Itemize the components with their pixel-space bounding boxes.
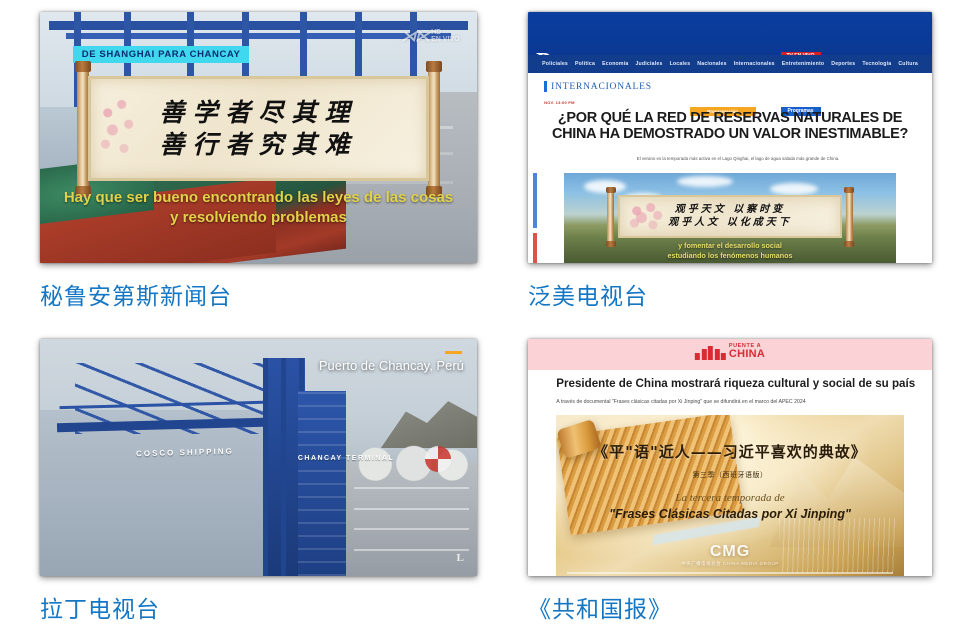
video-subtitle: Hay que ser bueno encontrando las leyes … [40, 188, 477, 229]
screenshot-peru-andina[interactable]: ⋊⋉ HD EN VIVO DE SHANGHAI PARA CHANCAY [40, 12, 477, 263]
calligraphy-scroll: 善学者尽其理 善行者究其难 [77, 65, 440, 193]
subtitle-line-2: y resolviendo problemas [50, 208, 467, 228]
scroll-rod-left [607, 191, 614, 243]
location-accent-bar [445, 351, 462, 354]
section-label: INTERNACIONALES [544, 81, 652, 92]
calligraphy-line-2: 善行者究其难 [159, 129, 357, 161]
poster-spanish-line-2: "Frases Clásicas Citadas por Xi Jinping" [556, 507, 903, 521]
site-header-bar [528, 12, 932, 55]
calligraphy-line-2: 观乎人文 以化成天下 [668, 217, 791, 230]
nav-item-politica[interactable]: Política [575, 61, 595, 67]
section-accent-bar [544, 81, 547, 92]
screenshot-latina[interactable]: COSCO SHIPPING CHANCAY TERMINAL Puerto d… [40, 339, 477, 576]
nav-item-deportes[interactable]: Deportes [831, 61, 855, 67]
terminal-label: CHANCAY TERMINAL [298, 455, 394, 462]
poster-chinese-title: 《平"语"近人——习近平喜欢的典故》 [556, 441, 903, 462]
subtitle-line-1: y fomentar el desarrollo social [564, 241, 895, 251]
article-timestamp: NOV. 13:00 PM [544, 100, 574, 105]
lower-third-banner: DE SHANGHAI PARA CHANCAY [73, 46, 250, 63]
scroll-rod-right [846, 191, 853, 243]
screenshot-root: ⋊⋉ HD EN VIVO DE SHANGHAI PARA CHANCAY [0, 0, 979, 640]
scroll-rod-right [428, 65, 440, 193]
article-headline: ¿POR QUÉ LA RED DE RESERVAS NATURALES DE… [536, 110, 924, 142]
brand-line-2: CHINA [729, 349, 765, 360]
brand-wordmark: PUENTE A CHINA [729, 344, 765, 361]
calligraphy-line-1: 观乎天文 以察时变 [675, 204, 785, 217]
calligraphy-scroll: 观乎天文 以察时变 观乎人文 以化成天下 [607, 191, 852, 243]
nav-item-tecnologia[interactable]: Tecnología [862, 61, 891, 67]
watermark-hd: HD [431, 29, 441, 36]
nav-item-policiales[interactable]: Policiales [542, 61, 568, 67]
crane-tower-secondary [298, 391, 346, 576]
location-label: Puerto de Chancay, Perú [319, 358, 464, 373]
nav-item-entretenimiento[interactable]: Entretenimiento [782, 61, 825, 67]
side-rail-accent [533, 173, 537, 228]
calligraphy-line-1: 善学者尽其理 [159, 97, 357, 129]
bridge-icon [695, 346, 726, 360]
nav-item-cultura[interactable]: Cultura [898, 61, 918, 67]
documentary-poster[interactable]: 《平"语"近人——习近平喜欢的典故》 第三季（西班牙语版） La tercera… [556, 415, 903, 576]
cosco-logo [425, 446, 451, 472]
screenshot-el-republicano[interactable]: PUENTE A CHINA Presidente de China mostr… [528, 339, 932, 576]
article-video-thumbnail[interactable]: 观乎天文 以察时变 观乎人文 以化成天下 y fomentar el desar… [564, 173, 895, 263]
nav-item-judiciales[interactable]: Judiciales [635, 61, 662, 67]
site-nav[interactable]: Policiales Política Economía Judiciales … [528, 55, 932, 74]
nav-item-locales[interactable]: Locales [670, 61, 691, 67]
channel-watermark: ⋊⋉ HD EN VIVO [401, 27, 459, 45]
latina-channel-badge: L [457, 552, 464, 564]
scroll-paper: 善学者尽其理 善行者究其难 [88, 76, 429, 181]
panel-grid: ⋊⋉ HD EN VIVO DE SHANGHAI PARA CHANCAY [0, 0, 979, 640]
cmg-logo: CMG 中央广播电视总台 CHINA MEDIA GROUP [556, 544, 903, 566]
scroll-paper: 观乎天文 以察时变 观乎人文 以化成天下 [618, 195, 841, 238]
nav-item-economia[interactable]: Economía [602, 61, 628, 67]
video-progress-bar[interactable] [567, 572, 894, 574]
screenshot-panamericana[interactable]: P miércoles 13 de Noviembre del 2024 Est… [528, 12, 932, 263]
poster-spanish-line-1: La tercera temporada de [556, 492, 903, 504]
article-title: Presidente de China mostrará riqueza cul… [556, 377, 916, 390]
video-subtitle: y fomentar el desarrollo social estudian… [564, 241, 895, 261]
article-subtitle: A través de documental "Frases clásicas … [556, 399, 908, 405]
subtitle-line-2: estudiando los fenómenos humanos [564, 251, 895, 261]
subtitle-line-1: Hay que ser bueno encontrando las leyes … [50, 188, 467, 208]
cmg-wordmark: CMG [710, 543, 750, 560]
nav-item-nacionales[interactable]: Nacionales [697, 61, 726, 67]
poster-chinese-season: 第三季（西班牙语版） [556, 470, 903, 480]
watermark-live: EN VIVO [431, 36, 459, 43]
article-deck: El verano es la temporada más activa en … [576, 156, 899, 161]
cmg-subtitle: 中央广播电视总台 CHINA MEDIA GROUP [556, 562, 903, 566]
section-name: INTERNACIONALES [551, 82, 652, 92]
nav-item-internacionales[interactable]: Internacionales [734, 61, 775, 67]
puente-a-china-logo[interactable]: PUENTE A CHINA [695, 344, 765, 361]
